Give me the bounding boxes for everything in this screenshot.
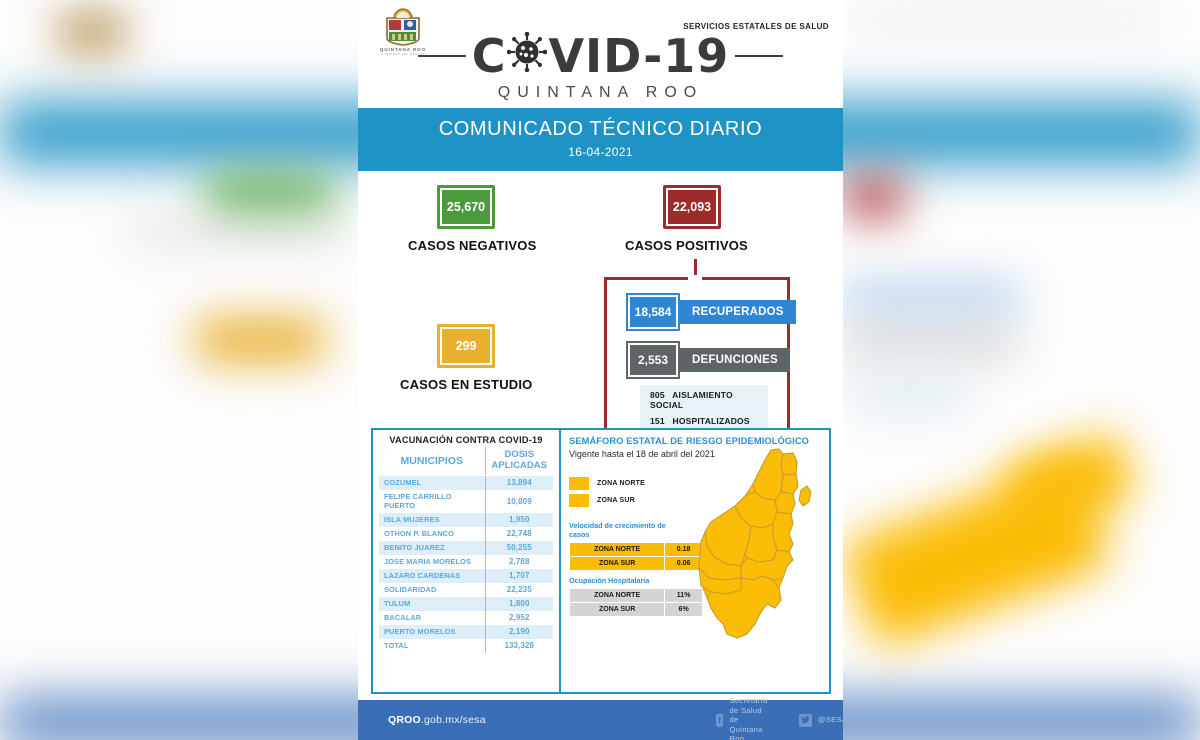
backdrop-red-blob xyxy=(843,176,905,218)
backdrop-grey-pill-blob xyxy=(840,330,1020,356)
dosis-cell: 2,788 xyxy=(485,555,553,569)
backdrop-blue-pill-blob xyxy=(840,284,1022,312)
twitter-icon xyxy=(799,714,812,727)
hospitalized-row: 151 HOSPITALIZADOS xyxy=(650,416,768,426)
under-study-value-box: 299 xyxy=(437,324,495,368)
municipio-cell: TOTAL xyxy=(379,639,485,653)
table-row: JOSE MARIA MORELOS2,788 xyxy=(379,555,553,569)
municipio-cell: SOLIDARIDAD xyxy=(379,583,485,597)
vaccination-section: VACUNACIÓN CONTRA COVID-19 MUNICIPIOS DO… xyxy=(373,430,561,692)
municipio-cell: OTHON P. BLANCO xyxy=(379,527,485,541)
hospitalized-label: HOSPITALIZADOS xyxy=(672,416,749,426)
municipio-cell: PUERTO MORELOS xyxy=(379,625,485,639)
facebook-text: Secretaría de Salud de Quintana Roo xyxy=(729,696,772,740)
table-row: TULUM1,800 xyxy=(379,597,553,611)
title-rule-left xyxy=(418,55,466,57)
municipio-cell: BENITO JUAREZ xyxy=(379,541,485,555)
negative-cases-value: 25,670 xyxy=(447,200,485,214)
municipio-cell: ISLA MUJERES xyxy=(379,513,485,527)
title-rule-right xyxy=(735,55,783,57)
negative-cases-value-box: 25,670 xyxy=(437,185,495,229)
recovered-pill: 18,584 RECUPERADOS xyxy=(626,293,796,331)
table-row: TOTAL133,328 xyxy=(379,639,553,653)
isolation-row: 805 AISLAMIENTO SOCIAL xyxy=(650,390,768,410)
under-study-value: 299 xyxy=(456,339,477,353)
legend-swatch-norte xyxy=(569,477,589,490)
table-row: BACALAR2,952 xyxy=(379,611,553,625)
covid-report-poster: QUINTANA ROO GOBIERNO DEL ESTADO SERVICI… xyxy=(358,0,843,740)
poster-header: QUINTANA ROO GOBIERNO DEL ESTADO SERVICI… xyxy=(358,0,843,108)
positive-cases-value: 22,093 xyxy=(673,200,711,214)
vaccination-table-header: MUNICIPIOS DOSIS APLICADAS xyxy=(379,447,553,475)
isolation-value: 805 xyxy=(650,390,665,400)
dosis-cell: 133,328 xyxy=(485,639,553,653)
legend-label-norte: ZONA NORTE xyxy=(597,480,645,487)
covid-title-c: C xyxy=(472,33,507,79)
under-study-label: CASOS EN ESTUDIO xyxy=(400,377,533,392)
statistics-section: 25,670 CASOS NEGATIVOS 22,093 CASOS POSI… xyxy=(358,171,843,439)
municipio-cell: TULUM xyxy=(379,597,485,611)
growth-zone-sur: ZONA SUR xyxy=(570,557,665,571)
municipio-cell: COZUMEL xyxy=(379,475,485,490)
dosis-cell: 10,809 xyxy=(485,490,553,513)
deaths-value: 2,553 xyxy=(626,341,680,379)
municipio-cell: BACALAR xyxy=(379,611,485,625)
coronavirus-icon xyxy=(507,32,547,79)
facebook-icon: f xyxy=(716,714,724,727)
backdrop-crest-blob xyxy=(56,14,128,50)
backdrop-map-blob-2 xyxy=(1002,431,1138,535)
growth-rate-table: ZONA NORTE 0.18 ZONA SUR 0.06 xyxy=(569,542,703,571)
table-row: SOLIDARIDAD22,235 xyxy=(379,583,553,597)
twitter-handle: @SESA_QROO xyxy=(818,715,843,724)
negative-cases-label: CASOS NEGATIVOS xyxy=(408,238,536,253)
active-cases-box: 805 AISLAMIENTO SOCIAL 151 HOSPITALIZADO… xyxy=(640,385,768,431)
column-dosis-line2: APLICADAS xyxy=(490,461,550,472)
hospitalized-value: 151 xyxy=(650,416,665,426)
municipio-cell: JOSE MARIA MORELOS xyxy=(379,555,485,569)
facebook-link[interactable]: f Secretaría de Salud de Quintana Roo xyxy=(716,696,773,740)
footer-website-path: .gob.mx/sesa xyxy=(421,714,486,726)
legend-label-sur: ZONA SUR xyxy=(597,497,635,504)
covid-title: C xyxy=(472,32,730,79)
dosis-cell: 22,235 xyxy=(485,583,553,597)
communique-band: COMUNICADO TÉCNICO DIARIO 16-04-2021 xyxy=(358,108,843,171)
table-row: OTHON P. BLANCO22,748 xyxy=(379,527,553,541)
semaforo-title: SEMÁFORO ESTATAL DE RIESGO EPIDEMIOLÓGIC… xyxy=(569,436,821,446)
dosis-cell: 2,190 xyxy=(485,625,553,639)
dosis-cell: 22,748 xyxy=(485,527,553,541)
dosis-cell: 1,950 xyxy=(485,513,553,527)
dosis-cell: 50,255 xyxy=(485,541,553,555)
bottom-panel: VACUNACIÓN CONTRA COVID-19 MUNICIPIOS DO… xyxy=(371,428,831,694)
backdrop-yellow-blob xyxy=(195,318,325,362)
recovered-label: RECUPERADOS xyxy=(680,300,796,324)
dosis-cell: 1,707 xyxy=(485,569,553,583)
communique-date: 16-04-2021 xyxy=(358,145,843,159)
facebook-line1: Secretaría de Salud xyxy=(729,696,772,715)
growth-row-sur: ZONA SUR 0.06 xyxy=(570,557,703,571)
vaccination-table: MUNICIPIOS DOSIS APLICADAS COZUMEL13,894… xyxy=(379,447,553,653)
backdrop-lightblue-blob xyxy=(850,376,970,410)
dosis-cell: 13,894 xyxy=(485,475,553,490)
vaccination-title: VACUNACIÓN CONTRA COVID-19 xyxy=(379,435,553,445)
legend-swatch-sur xyxy=(569,494,589,507)
communique-title: COMUNICADO TÉCNICO DIARIO xyxy=(358,118,843,141)
deaths-label: DEFUNCIONES xyxy=(680,348,790,372)
municipio-cell: LAZARO CARDENAS xyxy=(379,569,485,583)
table-row: ISLA MUJERES1,950 xyxy=(379,513,553,527)
occupancy-row-norte: ZONA NORTE 11% xyxy=(570,589,703,603)
growth-zone-norte: ZONA NORTE xyxy=(570,543,665,557)
covid-title-row: C xyxy=(358,32,843,79)
table-row: BENITO JUAREZ50,255 xyxy=(379,541,553,555)
occupancy-zone-norte: ZONA NORTE xyxy=(570,589,665,603)
occupancy-table: ZONA NORTE 11% ZONA SUR 6% xyxy=(569,588,703,617)
column-municipios: MUNICIPIOS xyxy=(379,447,485,475)
deaths-pill: 2,553 DEFUNCIONES xyxy=(626,341,790,379)
covid-title-vid19: VID-19 xyxy=(548,33,729,79)
growth-row-norte: ZONA NORTE 0.18 xyxy=(570,543,703,557)
table-row: FELIPE CARRILLO PUERTO10,809 xyxy=(379,490,553,513)
dosis-cell: 2,952 xyxy=(485,611,553,625)
footer-website-brand: QROO xyxy=(388,714,421,726)
growth-rate-title: Velocidad de crecimiento de casos xyxy=(569,521,681,539)
bracket-gap xyxy=(688,275,702,280)
positive-cases-label: CASOS POSITIVOS xyxy=(625,238,748,253)
dosis-cell: 1,800 xyxy=(485,597,553,611)
backdrop-green-blob xyxy=(205,176,333,216)
municipio-cell: FELIPE CARRILLO PUERTO xyxy=(379,490,485,513)
table-row: COZUMEL13,894 xyxy=(379,475,553,490)
twitter-link[interactable]: @SESA_QROO xyxy=(799,714,843,727)
facebook-line2: de Quintana Roo xyxy=(729,715,772,740)
table-row: PUERTO MORELOS2,190 xyxy=(379,625,553,639)
semaforo-section: SEMÁFORO ESTATAL DE RIESGO EPIDEMIOLÓGIC… xyxy=(561,430,829,692)
table-row: LAZARO CARDENAS1,707 xyxy=(379,569,553,583)
quintana-roo-map xyxy=(697,448,825,653)
occupancy-zone-sur: ZONA SUR xyxy=(570,603,665,617)
covid-subtitle: QUINTANA ROO xyxy=(358,84,843,102)
recovered-value: 18,584 xyxy=(626,293,680,331)
backdrop-topgrey-blob xyxy=(856,10,1156,32)
occupancy-row-sur: ZONA SUR 6% xyxy=(570,603,703,617)
column-dosis: DOSIS APLICADAS xyxy=(485,447,553,475)
positive-cases-value-box: 22,093 xyxy=(663,185,721,229)
poster-footer: QROO.gob.mx/sesa f Secretaría de Salud d… xyxy=(358,700,843,740)
footer-website[interactable]: QROO.gob.mx/sesa xyxy=(388,714,486,726)
backdrop-grey-blob-1 xyxy=(130,222,340,242)
